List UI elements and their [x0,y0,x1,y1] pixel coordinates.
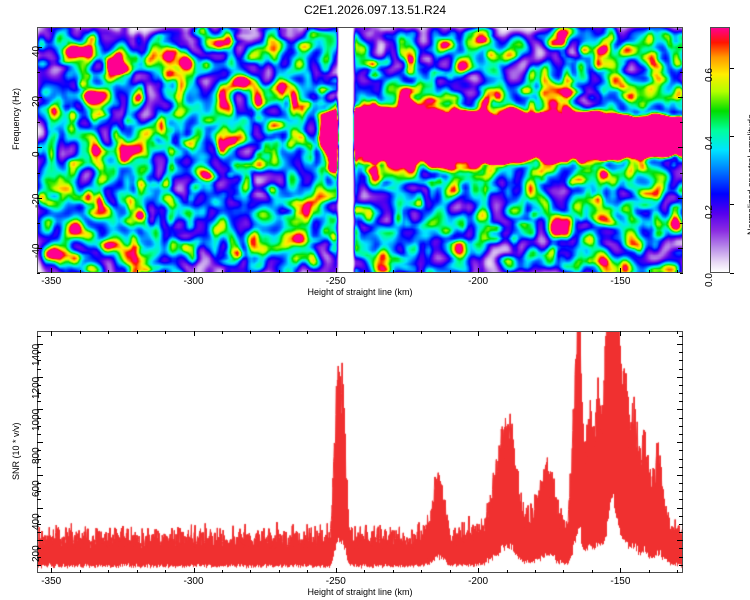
spectrogram-y-axis-label: Frequency (Hz) [11,88,21,150]
snr-y-minor-tick [679,360,683,361]
snr-x-minor-tick [592,570,593,573]
snr-x-minor-tick [507,570,508,573]
spectrogram-y-minor-tick [680,122,683,123]
snr-y-minor-tick [37,393,41,394]
snr-x-tick [336,568,337,573]
snr-y-minor-tick [37,450,41,451]
spectrogram-y-tick-label: -20 [31,193,42,207]
snr-x-axis-label: Height of straight line (km) [37,587,683,597]
spectrogram-x-minor-tick [222,27,223,30]
snr-x-tick [51,331,52,336]
spectrogram-y-minor-tick [37,223,40,224]
spectrogram-x-minor-tick [535,270,536,273]
snr-y-minor-tick [679,434,683,435]
spectrogram-x-tick [51,268,52,273]
snr-y-tick [37,344,43,345]
snr-y-minor-tick [679,565,683,566]
snr-x-minor-tick [307,570,308,573]
spectrogram-x-tick-label: -150 [600,276,640,287]
spectrogram-x-minor-tick [80,270,81,273]
snr-plot-line [37,331,683,573]
snr-x-tick-label: -350 [31,576,71,587]
spectrogram-x-tick [620,27,621,32]
snr-y-minor-tick [679,516,683,517]
snr-x-minor-tick [279,570,280,573]
snr-y-minor-tick [679,557,683,558]
snr-y-minor-tick [37,548,41,549]
snr-y-minor-tick [37,459,41,460]
spectrogram-y-minor-tick [37,273,40,274]
snr-x-minor-tick [80,570,81,573]
spectrogram-y-tick [37,248,42,249]
snr-x-minor-tick [563,331,564,334]
spectrogram-x-tick [336,268,337,273]
snr-y-tick [677,344,683,345]
spectrogram-y-tick [678,147,683,148]
snr-x-minor-tick [250,331,251,334]
spectrogram-y-tick-label: -40 [31,243,42,257]
colorbar-label: Normalized spectral amplitude [746,114,750,235]
snr-x-minor-tick [535,570,536,573]
snr-x-minor-tick [364,331,365,334]
snr-x-tick-label: -250 [316,576,356,587]
snr-x-minor-tick [307,331,308,334]
snr-y-minor-tick [679,450,683,451]
spectrogram-x-minor-tick [421,270,422,273]
spectrogram-x-minor-tick [307,27,308,30]
snr-y-minor-tick [679,352,683,353]
spectrogram-x-minor-tick [165,270,166,273]
colorbar-tick-mark [730,273,734,274]
spectrogram-x-minor-tick [535,27,536,30]
colorbar-tick-mark [730,68,734,69]
spectrogram-y-tick-label: 0 [31,152,42,158]
snr-x-minor-tick [421,331,422,334]
spectrogram-y-minor-tick [680,223,683,224]
snr-x-minor-tick [165,331,166,334]
snr-y-minor-tick [37,467,41,468]
snr-x-tick [194,568,195,573]
snr-x-minor-tick [222,331,223,334]
spectrogram-x-tick [478,268,479,273]
snr-y-minor-tick [37,426,41,427]
snr-x-minor-tick [222,570,223,573]
spectrogram-x-minor-tick [80,27,81,30]
spectrogram-x-tick [478,27,479,32]
spectrogram-x-minor-tick [677,270,678,273]
colorbar [710,27,730,273]
snr-y-tick-label: 1400 [31,344,42,366]
spectrogram-x-minor-tick [250,27,251,30]
snr-y-minor-tick [679,532,683,533]
snr-x-minor-tick [649,331,650,334]
snr-x-tick [478,331,479,336]
spectrogram-x-tick [620,268,621,273]
colorbar-tick-label: 0.0 [704,273,715,287]
snr-x-minor-tick [421,570,422,573]
spectrogram-x-tick-label: -300 [174,276,214,287]
snr-x-tick-label: -300 [174,576,214,587]
snr-y-minor-tick [679,499,683,500]
snr-x-minor-tick [364,570,365,573]
snr-x-tick [51,568,52,573]
snr-x-minor-tick [250,570,251,573]
snr-x-minor-tick [563,570,564,573]
spectrogram-y-minor-tick [680,273,683,274]
colorbar-tick-label: 0.2 [704,205,715,219]
snr-y-tick [677,475,683,476]
spectrogram-x-minor-tick [250,270,251,273]
snr-panel [37,331,683,573]
snr-y-minor-tick [37,434,41,435]
figure-title: C2E1.2026.097.13.51.R24 [0,3,750,17]
spectrogram-y-tick [678,248,683,249]
spectrogram-x-minor-tick [563,27,564,30]
spectrogram-x-minor-tick [279,270,280,273]
snr-y-minor-tick [37,483,41,484]
spectrogram-image [37,27,683,273]
snr-y-minor-tick [37,385,41,386]
spectrogram-x-minor-tick [421,27,422,30]
snr-y-minor-tick [37,491,41,492]
spectrogram-x-tick [51,27,52,32]
spectrogram-x-tick-label: -350 [31,276,71,287]
snr-x-tick [336,331,337,336]
spectrogram-x-tick [336,27,337,32]
snr-x-tick [620,568,621,573]
snr-y-tick [677,442,683,443]
snr-y-minor-tick [679,393,683,394]
spectrogram-x-minor-tick [450,270,451,273]
snr-x-minor-tick [677,331,678,334]
snr-y-tick [677,377,683,378]
spectrogram-x-minor-tick [592,27,593,30]
snr-y-minor-tick [679,426,683,427]
snr-x-minor-tick [108,331,109,334]
snr-y-minor-tick [679,385,683,386]
spectrogram-x-tick [194,27,195,32]
colorbar-tick-label: 0.4 [704,136,715,150]
snr-x-tick [478,568,479,573]
spectrogram-y-tick [37,198,42,199]
snr-y-minor-tick [37,524,41,525]
figure-canvas: C2E1.2026.097.13.51.R24 -350-300-250-200… [0,0,750,600]
snr-y-minor-tick [679,459,683,460]
spectrogram-y-minor-tick [37,173,40,174]
snr-x-minor-tick [677,570,678,573]
snr-x-tick [194,331,195,336]
colorbar-tick-mark [730,136,734,137]
snr-x-minor-tick [450,570,451,573]
snr-y-minor-tick [37,360,41,361]
spectrogram-y-tick [678,47,683,48]
snr-x-minor-tick [507,331,508,334]
spectrogram-x-minor-tick [677,27,678,30]
spectrogram-x-minor-tick [222,270,223,273]
spectrogram-x-minor-tick [307,270,308,273]
snr-y-tick [677,409,683,410]
snr-y-minor-tick [679,548,683,549]
spectrogram-x-minor-tick [137,270,138,273]
snr-y-minor-tick [37,557,41,558]
spectrogram-x-minor-tick [563,270,564,273]
snr-x-tick [620,331,621,336]
snr-x-minor-tick [165,570,166,573]
spectrogram-x-minor-tick [507,270,508,273]
snr-y-minor-tick [37,565,41,566]
snr-y-minor-tick [679,401,683,402]
snr-x-minor-tick [649,570,650,573]
snr-y-minor-tick [37,336,41,337]
spectrogram-y-minor-tick [37,72,40,73]
snr-y-tick [677,540,683,541]
snr-y-tick [37,508,43,509]
snr-y-axis-label: SNR (10 * v/v) [11,422,21,480]
snr-x-minor-tick [450,331,451,334]
spectrogram-x-minor-tick [649,270,650,273]
snr-x-minor-tick [535,331,536,334]
spectrogram-x-minor-tick [108,270,109,273]
snr-y-minor-tick [679,524,683,525]
spectrogram-y-tick [678,97,683,98]
spectrogram-panel [37,27,683,273]
spectrogram-x-tick-label: -250 [316,276,356,287]
spectrogram-y-tick [678,198,683,199]
snr-x-tick-label: -150 [600,576,640,587]
snr-x-minor-tick [279,331,280,334]
spectrogram-y-minor-tick [680,72,683,73]
snr-y-minor-tick [679,336,683,337]
snr-y-tick [37,475,43,476]
snr-x-minor-tick [137,570,138,573]
spectrogram-x-axis-label: Height of straight line (km) [37,287,683,297]
snr-x-minor-tick [393,331,394,334]
spectrogram-x-tick-label: -200 [458,276,498,287]
spectrogram-x-minor-tick [649,27,650,30]
snr-y-tick [37,377,43,378]
snr-y-minor-tick [679,467,683,468]
spectrogram-x-minor-tick [450,27,451,30]
spectrogram-y-tick [37,147,42,148]
snr-y-minor-tick [37,352,41,353]
spectrogram-x-tick [194,268,195,273]
snr-x-minor-tick [592,331,593,334]
snr-y-tick [37,540,43,541]
snr-y-minor-tick [679,418,683,419]
snr-x-minor-tick [108,570,109,573]
snr-y-minor-tick [37,369,41,370]
snr-x-minor-tick [393,570,394,573]
spectrogram-x-minor-tick [279,27,280,30]
snr-x-minor-tick [137,331,138,334]
snr-y-tick [677,508,683,509]
snr-y-minor-tick [679,483,683,484]
snr-y-minor-tick [679,491,683,492]
snr-y-tick-label: 1200 [31,377,42,399]
spectrogram-x-minor-tick [137,27,138,30]
spectrogram-x-minor-tick [507,27,508,30]
snr-y-minor-tick [37,401,41,402]
snr-x-minor-tick [80,331,81,334]
spectrogram-x-minor-tick [393,27,394,30]
spectrogram-y-minor-tick [680,173,683,174]
colorbar-tick-label: 0.6 [704,68,715,82]
snr-y-minor-tick [37,532,41,533]
spectrogram-x-minor-tick [393,270,394,273]
spectrogram-x-minor-tick [592,270,593,273]
spectrogram-x-minor-tick [364,27,365,30]
snr-x-tick-label: -200 [458,576,498,587]
snr-y-minor-tick [37,499,41,500]
spectrogram-y-minor-tick [37,122,40,123]
snr-y-tick [37,409,43,410]
snr-y-tick-label: 1000 [31,409,42,431]
snr-y-minor-tick [37,516,41,517]
colorbar-tick-mark [730,204,734,205]
spectrogram-y-tick [37,97,42,98]
snr-y-minor-tick [37,418,41,419]
spectrogram-x-minor-tick [165,27,166,30]
spectrogram-x-minor-tick [364,270,365,273]
snr-y-tick [37,442,43,443]
spectrogram-x-minor-tick [108,27,109,30]
spectrogram-y-tick [37,47,42,48]
snr-y-minor-tick [679,369,683,370]
